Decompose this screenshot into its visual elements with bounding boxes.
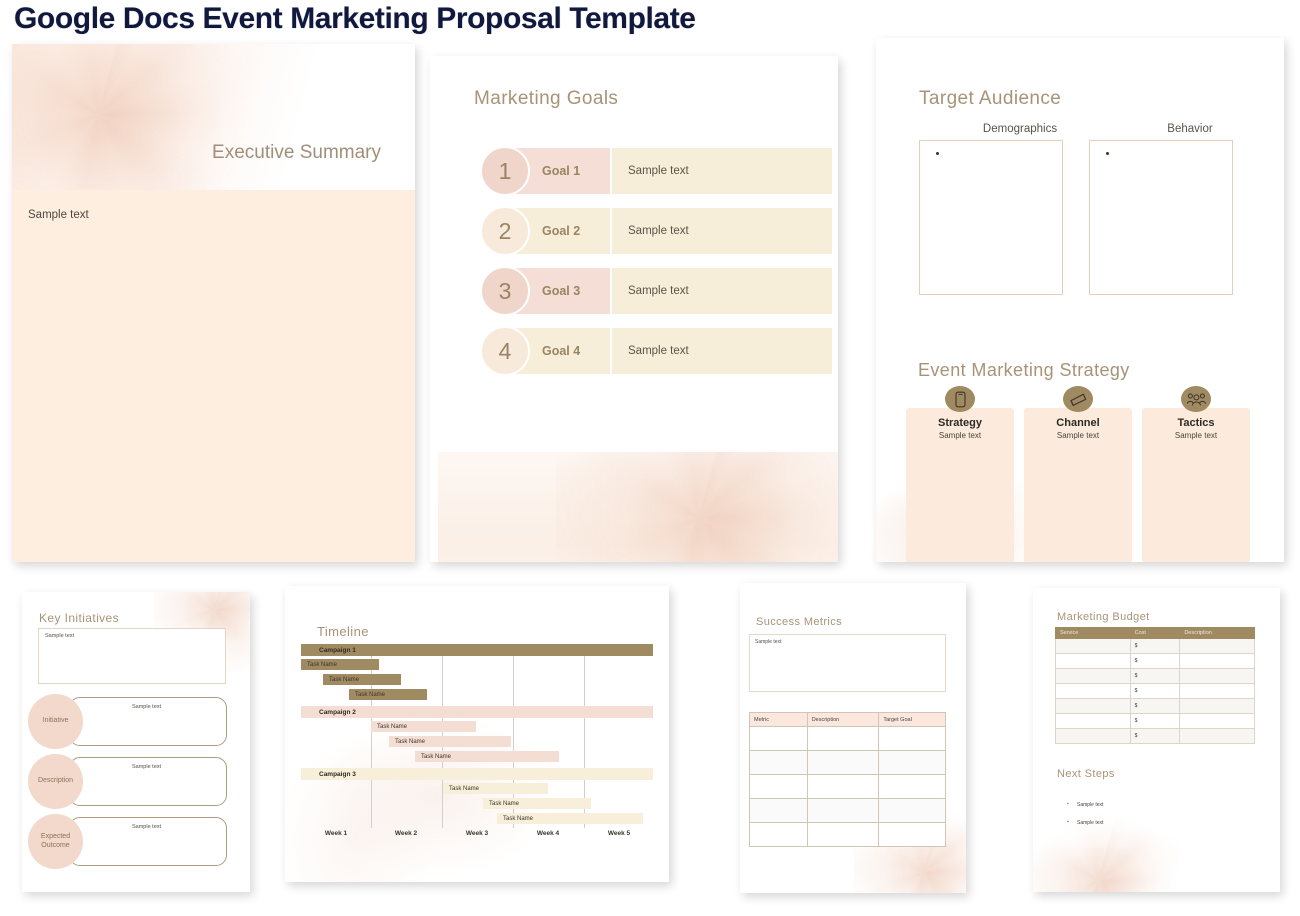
goal-number-badge: 2 [480, 206, 530, 256]
campaign-bar: Campaign 2 [301, 706, 653, 718]
cell-cost[interactable]: $ [1130, 684, 1180, 699]
success-metrics-title: Success Metrics [756, 616, 842, 628]
cell[interactable] [879, 751, 946, 775]
cell-description[interactable] [1180, 684, 1255, 699]
executive-summary-header [12, 44, 415, 190]
success-metrics-box[interactable]: Sample text [749, 634, 946, 692]
cell-service[interactable] [1056, 639, 1131, 654]
floral-decoration-icon [1033, 814, 1179, 892]
tactics-card-name: Tactics [1142, 417, 1250, 429]
initiative-row[interactable]: Sample text Initiative [50, 697, 227, 746]
event-marketing-strategy-title: Event Marketing Strategy [918, 360, 1130, 381]
cell[interactable] [807, 799, 879, 823]
campaign-bar: Campaign 1 [301, 644, 653, 656]
marketing-goals-title: Marketing Goals [474, 88, 618, 110]
task-bar: Task Name [323, 674, 401, 685]
cell[interactable] [750, 775, 808, 799]
initiative-text-box[interactable]: Sample text [69, 697, 227, 746]
column-header-target-goal: Target Goal [879, 713, 946, 727]
target-audience-title: Target Audience [919, 88, 1061, 110]
next-steps-item: Sample text [1077, 802, 1103, 808]
table-header-row: Service Cost Description [1056, 628, 1255, 639]
key-initiatives-summary-text: Sample text [45, 633, 74, 639]
week-label: Week 5 [584, 830, 654, 837]
table-row[interactable]: $ [1056, 654, 1255, 669]
floral-decoration-icon [12, 44, 260, 190]
bullet-icon [1106, 152, 1109, 155]
marketing-budget-title: Marketing Budget [1057, 611, 1150, 623]
table-row[interactable] [750, 775, 946, 799]
channel-card-text: Sample text [1024, 431, 1132, 440]
cell-cost[interactable]: $ [1130, 669, 1180, 684]
slide-timeline[interactable]: Timeline Campaign 1 Task Name Task Name … [285, 586, 669, 882]
cell-service[interactable] [1056, 714, 1131, 729]
gantt-chart: Campaign 1 Task Name Task Name Task Name… [301, 644, 653, 844]
slide-target-audience[interactable]: Target Audience Demographics Behavior Ev… [876, 38, 1284, 562]
goal-text[interactable]: Sample text [612, 208, 832, 254]
cell-cost[interactable]: $ [1130, 639, 1180, 654]
cell-description[interactable] [1180, 729, 1255, 744]
table-row[interactable] [750, 727, 946, 751]
column-header-cost: Cost [1130, 628, 1180, 639]
cell-service[interactable] [1056, 684, 1131, 699]
table-row[interactable]: $ [1056, 714, 1255, 729]
initiative-row[interactable]: Sample text Description [50, 757, 227, 806]
cell-cost[interactable]: $ [1130, 729, 1180, 744]
cell[interactable] [750, 823, 808, 847]
campaign-bar: Campaign 3 [301, 768, 653, 780]
executive-summary-sample-text: Sample text [28, 209, 89, 221]
behavior-box[interactable] [1089, 140, 1233, 295]
bullet-icon [936, 152, 939, 155]
cell-service[interactable] [1056, 699, 1131, 714]
audience-column-label-demographics: Demographics [948, 123, 1092, 135]
template-preview-page: Google Docs Event Marketing Proposal Tem… [0, 0, 1300, 916]
next-steps-item: Sample text [1077, 820, 1103, 826]
table-row[interactable] [750, 823, 946, 847]
next-steps-title: Next Steps [1057, 768, 1115, 780]
cell[interactable] [807, 751, 879, 775]
initiative-circle-label: Description [28, 754, 83, 809]
cell[interactable] [750, 799, 808, 823]
column-header-metric: Metric [750, 713, 808, 727]
task-bar: Task Name [371, 721, 476, 732]
timeline-title: Timeline [317, 624, 369, 639]
marketing-budget-table[interactable]: Service Cost Description $ $ $ $ $ $ $ [1055, 627, 1255, 744]
cell[interactable] [750, 751, 808, 775]
cell-cost[interactable]: $ [1130, 714, 1180, 729]
table-row[interactable]: $ [1056, 699, 1255, 714]
audience-column-label-behavior: Behavior [1118, 123, 1262, 135]
goal-number-badge: 3 [480, 266, 530, 316]
initiative-text-box[interactable]: Sample text [69, 757, 227, 806]
week-label: Week 1 [301, 830, 371, 837]
initiative-row[interactable]: Sample text Expected Outcome [50, 817, 227, 866]
table-row[interactable]: $ [1056, 729, 1255, 744]
strategy-card-text: Sample text [906, 431, 1014, 440]
week-label: Week 4 [513, 830, 583, 837]
goal-number-badge: 1 [480, 146, 530, 196]
task-bar: Task Name [497, 813, 643, 824]
cell[interactable] [879, 775, 946, 799]
task-bar: Task Name [443, 783, 548, 794]
key-initiatives-title: Key Initiatives [39, 611, 119, 625]
cell-description[interactable] [1180, 669, 1255, 684]
week-label: Week 3 [442, 830, 512, 837]
initiative-sample-text: Sample text [132, 704, 161, 710]
megaphone-icon [1063, 386, 1093, 412]
slide-marketing-budget[interactable]: Marketing Budget Service Cost Descriptio… [1033, 588, 1280, 892]
goal-text[interactable]: Sample text [612, 148, 832, 194]
task-bar: Task Name [415, 751, 559, 762]
mobile-phone-icon [945, 386, 975, 412]
cell-service[interactable] [1056, 729, 1131, 744]
column-header-service: Service [1056, 628, 1131, 639]
slide-marketing-goals[interactable]: Marketing Goals 1 Goal 1 Sample text 2 G… [430, 56, 838, 562]
goal-text[interactable]: Sample text [612, 328, 832, 374]
column-header-description: Description [1180, 628, 1255, 639]
task-bar: Task Name [301, 659, 379, 670]
cell[interactable] [750, 727, 808, 751]
cell-description[interactable] [1180, 639, 1255, 654]
cell-description[interactable] [1180, 699, 1255, 714]
cell[interactable] [807, 823, 879, 847]
task-bar: Task Name [483, 798, 591, 809]
initiative-sample-text: Sample text [132, 764, 161, 770]
cell-service[interactable] [1056, 669, 1131, 684]
page-title: Google Docs Event Marketing Proposal Tem… [14, 2, 696, 36]
executive-summary-title: Executive Summary [212, 142, 381, 164]
initiative-circle-label: Initiative [28, 694, 83, 749]
cell[interactable] [879, 727, 946, 751]
goal-text[interactable]: Sample text [612, 268, 832, 314]
cell[interactable] [807, 727, 879, 751]
slide-key-initiatives[interactable]: Key Initiatives Sample text Sample text … [22, 592, 250, 892]
cell-description[interactable] [1180, 714, 1255, 729]
slide-success-metrics[interactable]: Success Metrics Sample text Metric Descr… [740, 583, 966, 893]
initiative-sample-text: Sample text [132, 824, 161, 830]
table-row[interactable]: $ [1056, 639, 1255, 654]
executive-summary-body[interactable]: Sample text [12, 190, 415, 562]
demographics-box[interactable] [919, 140, 1063, 295]
slide-executive-summary[interactable]: Executive Summary Sample text [12, 44, 415, 562]
table-row[interactable] [750, 751, 946, 775]
floral-decoration-icon [556, 452, 838, 562]
column-header-description: Description [807, 713, 879, 727]
cell[interactable] [807, 775, 879, 799]
table-row[interactable]: $ [1056, 684, 1255, 699]
people-group-icon [1181, 386, 1211, 412]
table-row[interactable]: $ [1056, 669, 1255, 684]
channel-card-name: Channel [1024, 417, 1132, 429]
key-initiatives-summary-box[interactable]: Sample text [38, 628, 226, 684]
cell[interactable] [879, 823, 946, 847]
goal-number-badge: 4 [480, 326, 530, 376]
week-label: Week 2 [371, 830, 441, 837]
cell[interactable] [879, 799, 946, 823]
table-header-row: Metric Description Target Goal [750, 713, 946, 727]
success-metrics-sample-text: Sample text [755, 639, 781, 645]
table-row[interactable] [750, 799, 946, 823]
task-bar: Task Name [389, 736, 511, 747]
cell-cost[interactable]: $ [1130, 699, 1180, 714]
initiative-circle-label: Expected Outcome [28, 814, 83, 869]
cell-description[interactable] [1180, 654, 1255, 669]
cell-cost[interactable]: $ [1130, 654, 1180, 669]
tactics-card-text: Sample text [1142, 431, 1250, 440]
task-bar: Task Name [349, 689, 427, 700]
strategy-card-name: Strategy [906, 417, 1014, 429]
success-metrics-table[interactable]: Metric Description Target Goal [749, 712, 946, 847]
initiative-text-box[interactable]: Sample text [69, 817, 227, 866]
cell-service[interactable] [1056, 654, 1131, 669]
goals-floral-banner [438, 452, 838, 562]
